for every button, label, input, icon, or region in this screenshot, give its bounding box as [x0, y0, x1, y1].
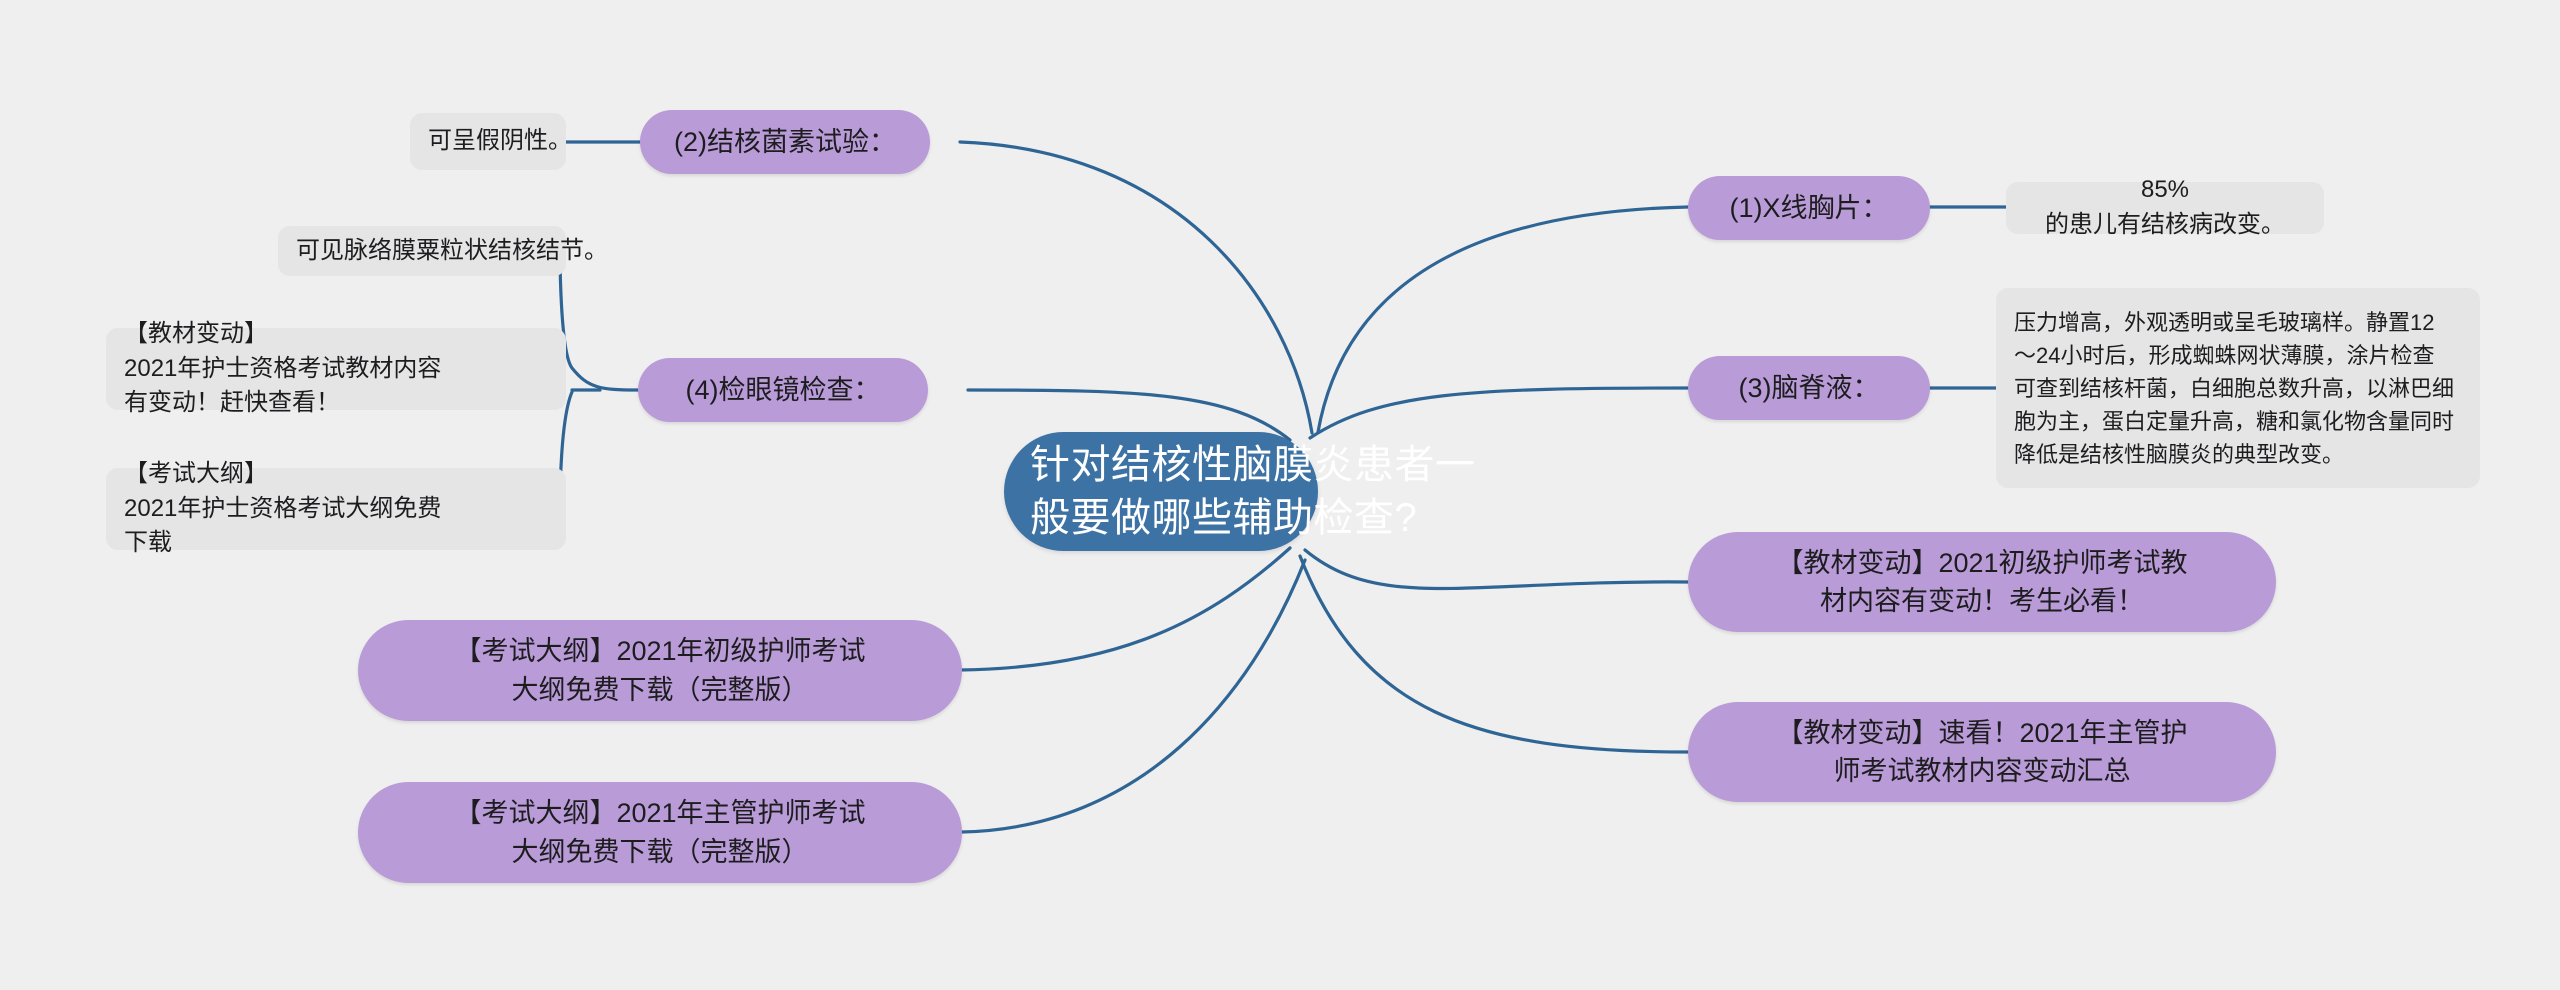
- branch-node-charge-nurse-textbook-change[interactable]: 【教材变动】速看！2021年主管护 师考试教材内容变动汇总: [1688, 702, 2276, 802]
- branch-node-tuberculin-test[interactable]: (2)结核菌素试验：: [640, 110, 930, 174]
- leaf-node-nurse-textbook-change[interactable]: 【教材变动】2021年护士资格考试教材内容 有变动！赶快查看！: [106, 328, 566, 410]
- edge-root-to-csf: [1310, 388, 1688, 438]
- branch-label-junior-nurse-syllabus: 【考试大纲】2021年初级护师考试 大纲免费下载（完整版）: [388, 632, 932, 709]
- edge-root-to-junior-syllabus: [960, 548, 1290, 670]
- leaf-node-false-negative[interactable]: 可呈假阴性。: [410, 113, 566, 170]
- mindmap-canvas: 针对结核性脑膜炎患者一 般要做哪些辅助检查? (2)结核菌素试验： 可呈假阴性。…: [0, 0, 2560, 990]
- leaf-label-nurse-textbook-change: 【教材变动】2021年护士资格考试教材内容 有变动！赶快查看！: [124, 317, 548, 421]
- branch-label-xray-chest: (1)X线胸片：: [1718, 189, 1900, 227]
- branch-label-charge-nurse-textbook-change: 【教材变动】速看！2021年主管护 师考试教材内容变动汇总: [1718, 714, 2246, 791]
- leaf-label-xray-finding: 85%的患儿有结核病改变。: [2024, 173, 2306, 243]
- leaf-node-csf-finding[interactable]: 压力增高，外观透明或呈毛玻璃样。静置12 ～24小时后，形成蜘蛛网状薄膜，涂片检…: [1996, 288, 2480, 488]
- edge-root-to-tuberculin: [960, 142, 1312, 433]
- edge-root-to-xray: [1318, 207, 1688, 432]
- edge-root-to-charge-change: [1300, 556, 1688, 752]
- leaf-node-choroid-tubercle[interactable]: 可见脉络膜粟粒状结核结节。: [278, 226, 566, 276]
- branch-node-csf[interactable]: (3)脑脊液：: [1688, 356, 1930, 420]
- root-node-label: 针对结核性脑膜炎患者一 般要做哪些辅助检查?: [1030, 439, 1292, 545]
- branch-label-charge-nurse-syllabus: 【考试大纲】2021年主管护师考试 大纲免费下载（完整版）: [388, 794, 932, 871]
- leaf-label-false-negative: 可呈假阴性。: [428, 124, 548, 159]
- branch-node-junior-nurse-syllabus[interactable]: 【考试大纲】2021年初级护师考试 大纲免费下载（完整版）: [358, 620, 962, 721]
- branch-label-junior-nurse-textbook-change: 【教材变动】2021初级护师考试教 材内容有变动！考生必看！: [1718, 544, 2246, 621]
- edge-ophthalmoscope-to-leaf-curve: [560, 250, 638, 390]
- edge-root-to-charge-syllabus: [962, 560, 1305, 832]
- leaf-label-nurse-syllabus-download: 【考试大纲】2021年护士资格考试大纲免费 下载: [124, 457, 548, 561]
- leaf-label-choroid-tubercle: 可见脉络膜粟粒状结核结节。: [296, 234, 548, 269]
- branch-node-charge-nurse-syllabus[interactable]: 【考试大纲】2021年主管护师考试 大纲免费下载（完整版）: [358, 782, 962, 883]
- branch-node-xray-chest[interactable]: (1)X线胸片：: [1688, 176, 1930, 240]
- leaf-node-nurse-syllabus-download[interactable]: 【考试大纲】2021年护士资格考试大纲免费 下载: [106, 468, 566, 550]
- branch-label-csf: (3)脑脊液：: [1718, 369, 1900, 407]
- branch-node-ophthalmoscope[interactable]: (4)检眼镜检查：: [638, 358, 928, 422]
- leaf-label-csf-finding: 压力增高，外观透明或呈毛玻璃样。静置12 ～24小时后，形成蜘蛛网状薄膜，涂片检…: [2014, 306, 2462, 471]
- branch-node-junior-nurse-textbook-change[interactable]: 【教材变动】2021初级护师考试教 材内容有变动！考生必看！: [1688, 532, 2276, 632]
- leaf-node-xray-finding[interactable]: 85%的患儿有结核病改变。: [2006, 182, 2324, 234]
- edge-root-to-junior-change: [1305, 550, 1688, 589]
- branch-label-tuberculin-test: (2)结核菌素试验：: [670, 123, 900, 161]
- branch-label-ophthalmoscope: (4)检眼镜检查：: [668, 371, 898, 409]
- root-node[interactable]: 针对结核性脑膜炎患者一 般要做哪些辅助检查?: [1004, 432, 1318, 551]
